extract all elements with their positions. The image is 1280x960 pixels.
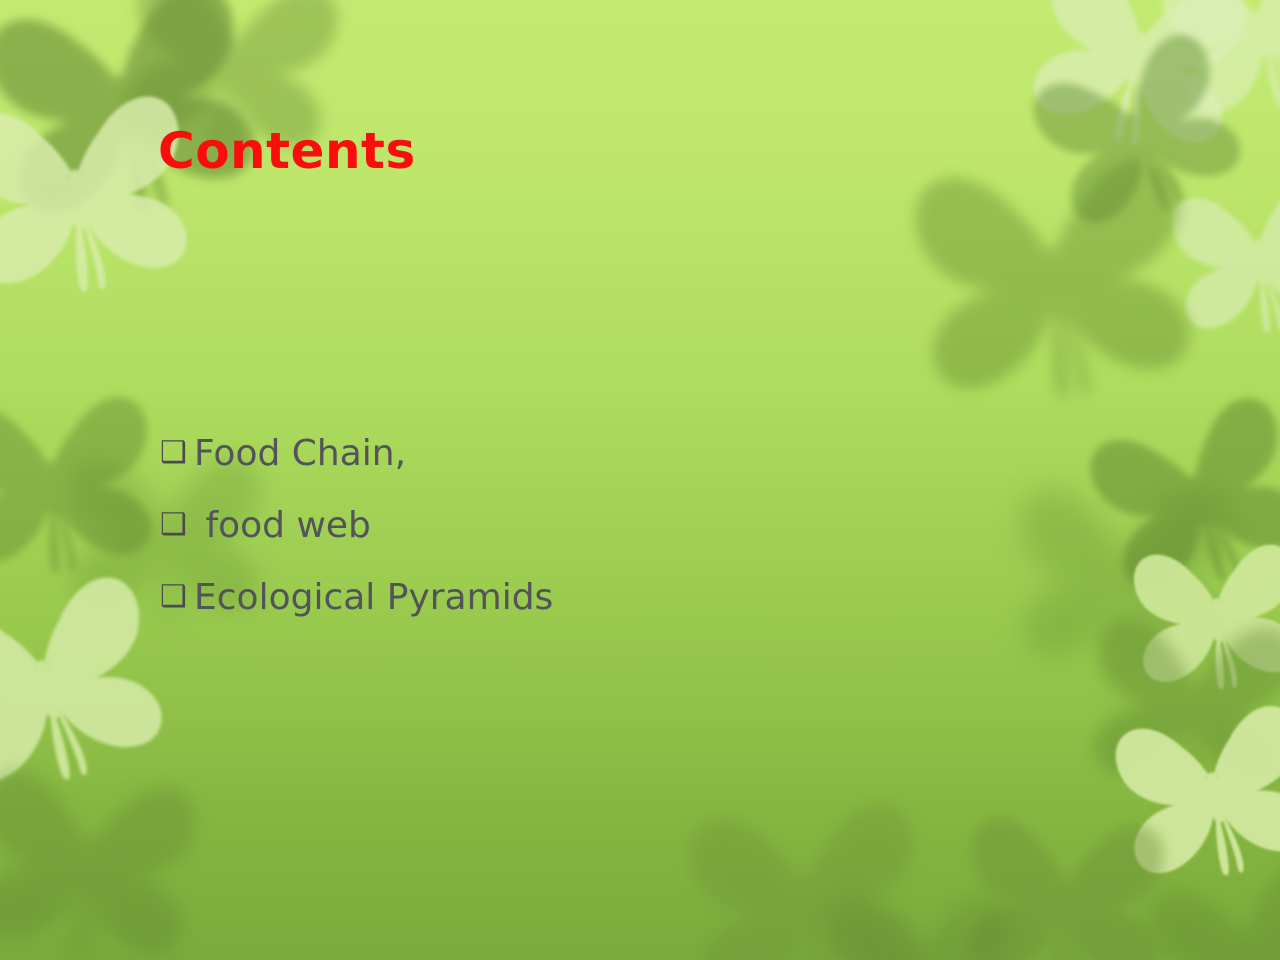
butterfly-dark-bottom-center-2 (820, 880, 1020, 960)
butterfly-dark-bottom-center (673, 778, 941, 960)
butterfly-dark-right-middle (1069, 372, 1280, 627)
butterfly-light-right-upper (1159, 163, 1280, 358)
list-item: ❑ food web (160, 504, 1060, 576)
list-item-label: Food Chain, (194, 432, 406, 476)
butterfly-dark-left-middle (0, 378, 167, 597)
square-bullet-icon: ❑ (160, 432, 194, 474)
list-item: ❑ Food Chain, (160, 432, 1060, 504)
butterfly-light-top-left (0, 73, 206, 321)
butterfly-dark-bottom-right-2 (1132, 841, 1280, 960)
list-item-label: Ecological Pyramids (194, 576, 553, 620)
butterfly-light-top-right-2 (1143, 0, 1280, 148)
butterfly-light-top-right (1011, 0, 1264, 180)
butterfly-dark-top-right (1012, 9, 1269, 260)
square-bullet-icon: ❑ (160, 504, 194, 546)
butterfly-dark-right-lower (1078, 598, 1280, 817)
butterfly-dark-bottom-left (0, 749, 211, 960)
list-item-label: food web (194, 504, 371, 548)
butterfly-light-right-middle (1123, 528, 1280, 711)
content-bullet-list: ❑ Food Chain, ❑ food web ❑ Ecological Py… (160, 432, 1060, 646)
square-bullet-icon: ❑ (160, 576, 194, 618)
butterfly-light-bottom-right (1100, 684, 1280, 908)
list-item: ❑ Ecological Pyramids (160, 576, 1060, 646)
butterfly-dark-bottom-right (955, 800, 1175, 960)
butterfly-dark-right-large (896, 131, 1213, 435)
presentation-slide: Contents ❑ Food Chain, ❑ food web ❑ Ecol… (0, 0, 1280, 960)
slide-title: Contents (158, 122, 416, 180)
